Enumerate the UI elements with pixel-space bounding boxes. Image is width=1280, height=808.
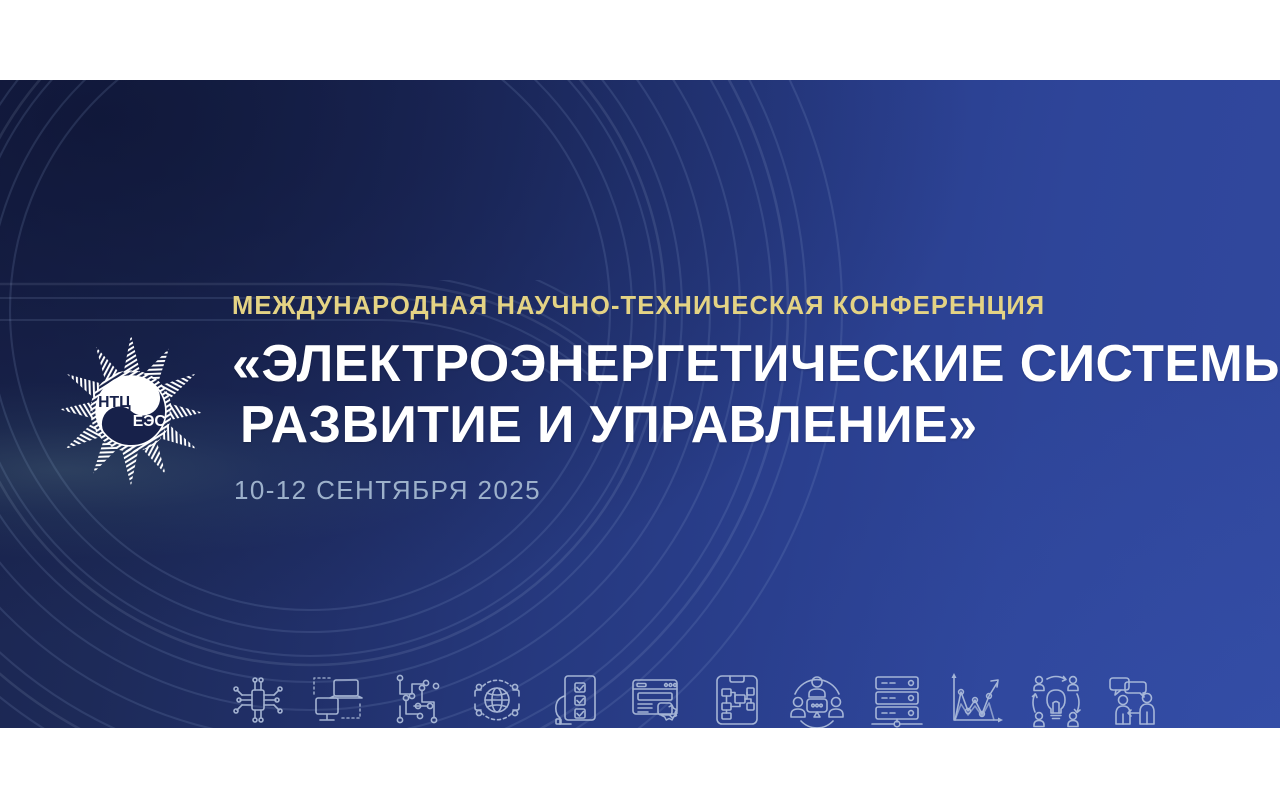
circuit-board-icon: [386, 663, 450, 728]
conference-banner: НТЦ ЕЭС МЕЖДУНАРОДНАЯ НАУЧНО-ТЕХНИЧЕСКАЯ…: [0, 80, 1280, 728]
browser-certificate-icon: [625, 663, 689, 728]
flowchart-diagram-icon: [705, 663, 769, 728]
conference-dates: 10-12 СЕНТЯБРЯ 2025: [234, 475, 1192, 506]
team-discussion-icon: [785, 663, 849, 728]
banner-text-block: МЕЖДУНАРОДНАЯ НАУЧНО-ТЕХНИЧЕСКАЯ КОНФЕРЕ…: [232, 292, 1192, 506]
presentation-people-icon: [1104, 663, 1168, 728]
logo-text-ees: ЕЭС: [133, 413, 166, 430]
page-title: «ЭЛЕКТРОЭНЕРГЕТИЧЕСКИЕ СИСТЕМЫ: РАЗВИТИЕ…: [232, 334, 1192, 457]
page-canvas: НТЦ ЕЭС МЕЖДУНАРОДНАЯ НАУЧНО-ТЕХНИЧЕСКАЯ…: [0, 0, 1280, 808]
checklist-clipboard-icon: [545, 663, 609, 728]
title-line-1: «ЭЛЕКТРОЭНЕРГЕТИЧЕСКИЕ СИСТЕМЫ:: [232, 334, 1192, 395]
title-line-2: РАЗВИТИЕ И УПРАВЛЕНИЕ»: [232, 395, 1192, 456]
ntc-ees-logo: НТЦ ЕЭС: [48, 328, 214, 494]
lightbulb-teamwork-icon: [1024, 663, 1088, 728]
laptop-monitor-icon: [306, 663, 370, 728]
global-network-icon: [465, 663, 529, 728]
server-rack-icon: [865, 663, 929, 728]
topics-icon-strip: [226, 658, 1168, 728]
logo-text-ntc: НТЦ: [98, 394, 131, 411]
microchip-circuit-icon: [226, 663, 290, 728]
conference-kicker: МЕЖДУНАРОДНАЯ НАУЧНО-ТЕХНИЧЕСКАЯ КОНФЕРЕ…: [232, 292, 1192, 320]
growth-chart-icon: [944, 663, 1008, 728]
